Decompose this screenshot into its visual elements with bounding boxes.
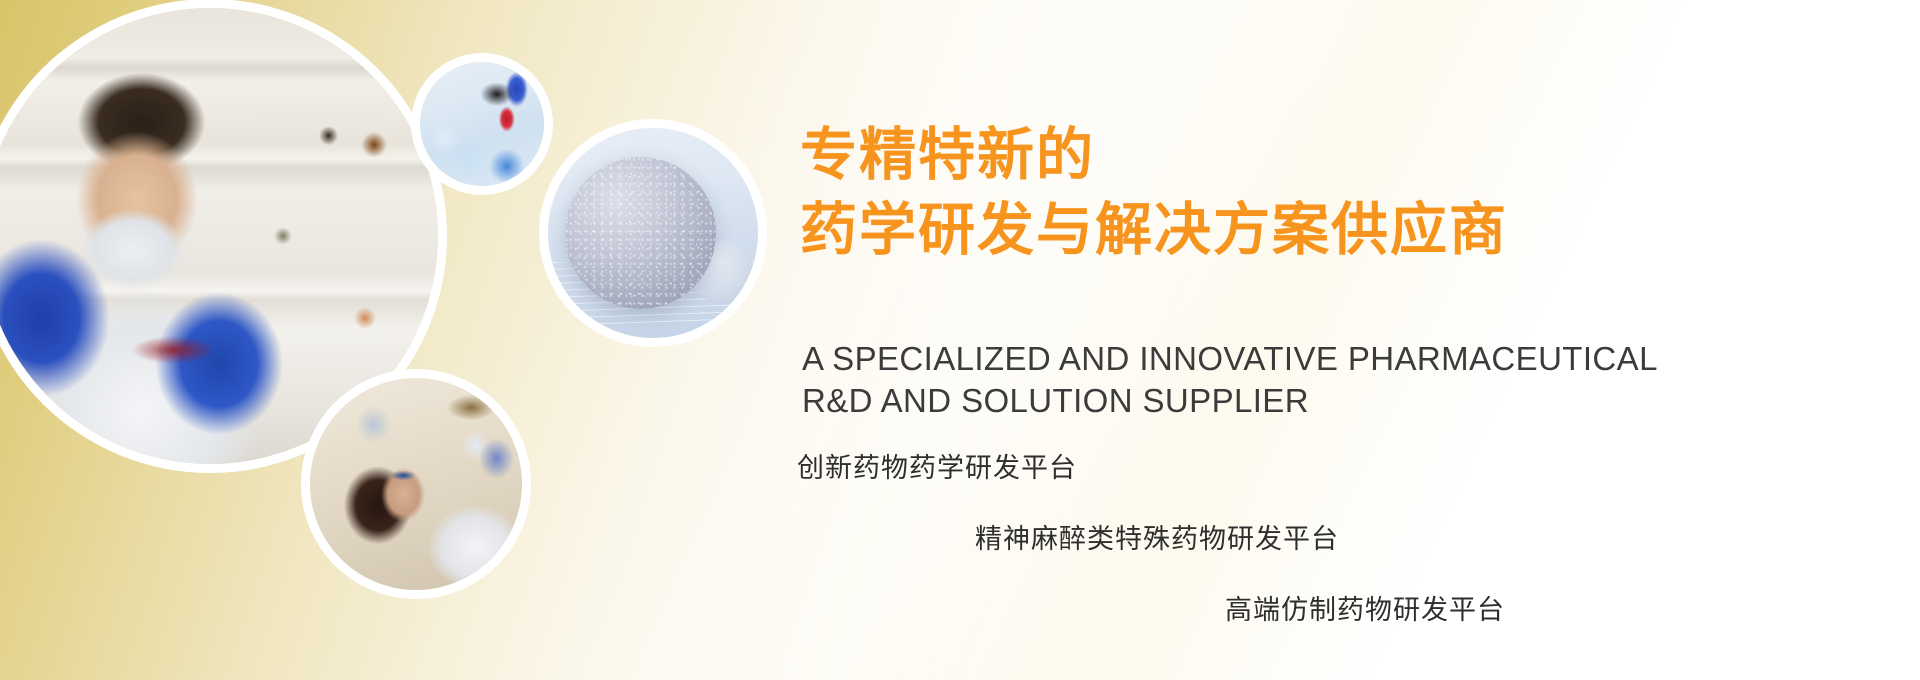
powder-sphere-photo (548, 128, 758, 338)
microscope-flasks-photo (420, 62, 544, 186)
microscope-flasks-image (420, 62, 544, 186)
hero-banner: 专精特新的 药学研发与解决方案供应商 A SPECIALIZED AND INN… (0, 0, 1920, 680)
headline-line-1: 专精特新的 (800, 118, 1895, 193)
powder-sphere-main (565, 157, 716, 308)
photo-collage (0, 0, 800, 680)
tagline-list: 创新药物药学研发平台 精神麻醉类特殊药物研发平台 高端仿制药物研发平台 (795, 455, 1890, 624)
headline-line-2: 药学研发与解决方案供应商 (800, 193, 1895, 268)
tagline-item: 高端仿制药物研发平台 (1225, 597, 1890, 624)
powder-sphere-image (548, 128, 758, 338)
lab-scientist-female-photo (310, 378, 522, 590)
subtitle-line-1: A SPECIALIZED AND INNOVATIVE PHARMACEUTI… (802, 338, 1522, 380)
banner-content: 专精特新的 药学研发与解决方案供应商 A SPECIALIZED AND INN… (795, 0, 1890, 680)
tagline-item: 精神麻醉类特殊药物研发平台 (975, 526, 1890, 553)
lab-scientist-female-image (310, 378, 522, 590)
subtitle: A SPECIALIZED AND INNOVATIVE PHARMACEUTI… (802, 338, 1522, 422)
tagline-item: 创新药物药学研发平台 (797, 455, 1890, 482)
headline: 专精特新的 药学研发与解决方案供应商 (800, 118, 1895, 268)
subtitle-line-2: R&D AND SOLUTION SUPPLIER (802, 380, 1522, 422)
